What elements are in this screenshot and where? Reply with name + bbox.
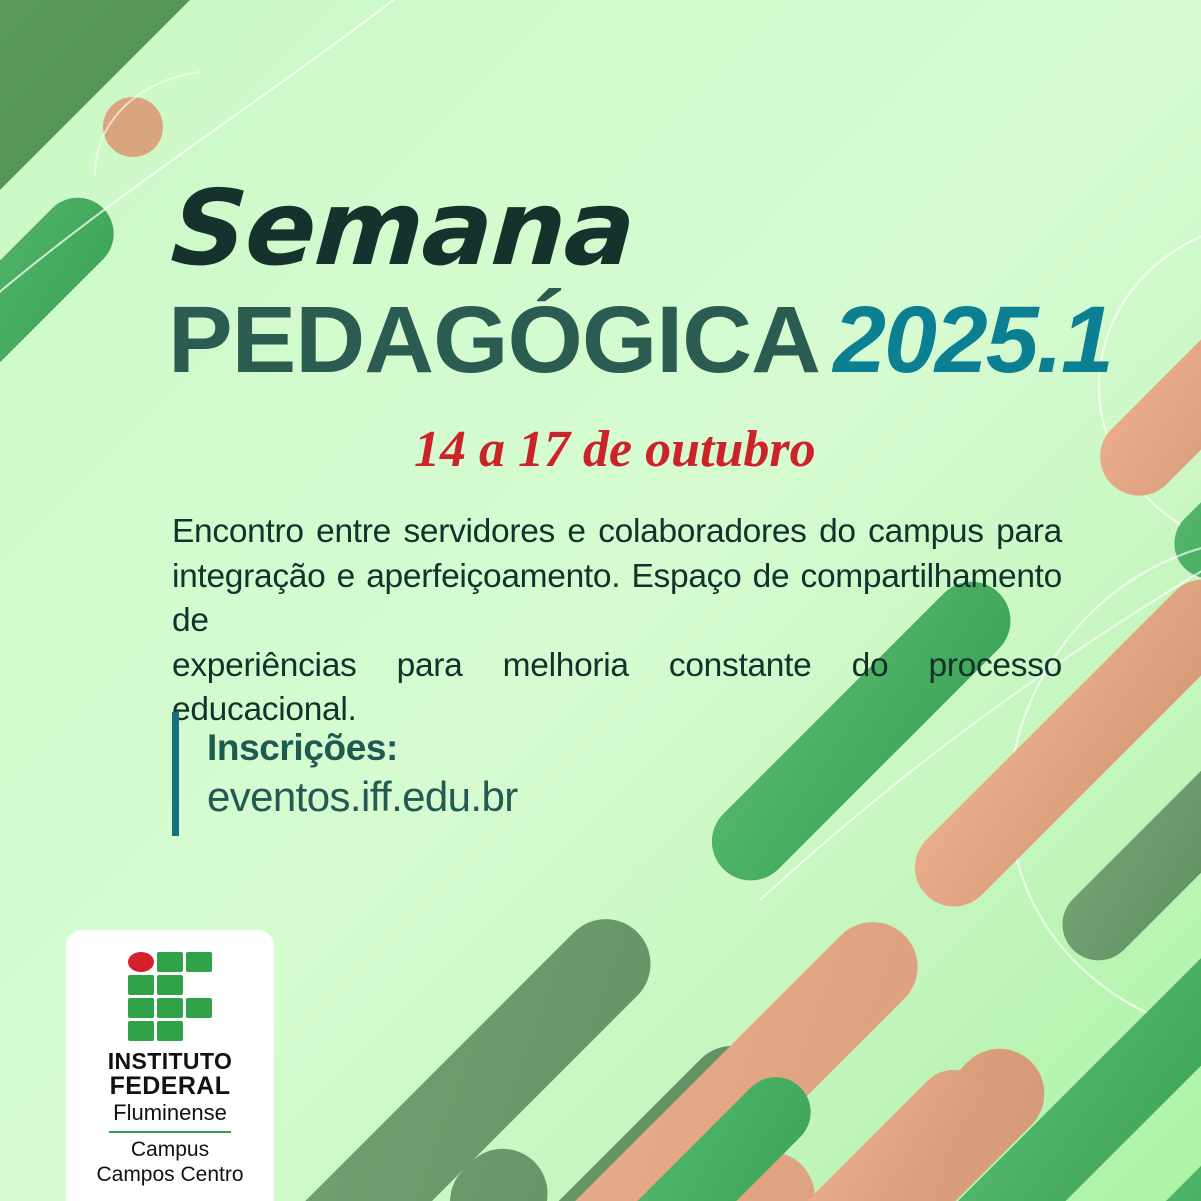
logo-cell-empty bbox=[186, 1021, 212, 1041]
logo-cell bbox=[157, 975, 183, 995]
logo-cell bbox=[157, 998, 183, 1018]
registration-url[interactable]: eventos.iff.edu.br bbox=[207, 773, 518, 821]
logo-text-federal: FEDERAL bbox=[110, 1073, 231, 1099]
title-main-row: PEDAGÓGICA 2025.1 bbox=[168, 293, 1112, 388]
logo-text-campus-name: Campos Centro bbox=[96, 1163, 243, 1188]
logo-text-campus-label: Campus bbox=[131, 1138, 209, 1163]
logo-cell bbox=[128, 975, 154, 995]
institution-logo-card: INSTITUTO FEDERAL Fluminense Campus Camp… bbox=[66, 930, 274, 1201]
poster-canvas: Semana PEDAGÓGICA 2025.1 14 a 17 de outu… bbox=[0, 0, 1201, 1201]
logo-cell bbox=[186, 952, 212, 972]
logo-cell-red-circle bbox=[128, 952, 154, 972]
registration-block: Inscrições: eventos.iff.edu.br bbox=[172, 712, 518, 836]
logo-divider bbox=[109, 1131, 231, 1134]
registration-label: Inscrições: bbox=[207, 727, 518, 770]
logo-cell bbox=[186, 998, 212, 1018]
logo-cell bbox=[157, 1021, 183, 1041]
title-year: 2025.1 bbox=[833, 293, 1112, 388]
description-line-2: integração e aperfeiçoamento. Espaço de … bbox=[172, 558, 1062, 640]
logo-text-fluminense: Fluminense bbox=[113, 1099, 227, 1127]
iff-logo-icon bbox=[128, 952, 212, 1040]
logo-cell-empty bbox=[186, 975, 212, 995]
title-semana: Semana bbox=[168, 176, 637, 280]
poster-content: Semana PEDAGÓGICA 2025.1 14 a 17 de outu… bbox=[0, 0, 1201, 1201]
logo-cell bbox=[128, 998, 154, 1018]
event-dates: 14 a 17 de outubro bbox=[414, 424, 816, 476]
title-pedagogica: PEDAGÓGICA bbox=[168, 293, 820, 388]
logo-cell bbox=[157, 952, 183, 972]
logo-text-instituto: INSTITUTO bbox=[108, 1050, 233, 1073]
description-line-1: Encontro entre servidores e colaboradore… bbox=[172, 513, 1062, 550]
logo-cell bbox=[128, 1021, 154, 1041]
event-description: Encontro entre servidores e colaboradore… bbox=[172, 510, 1062, 733]
